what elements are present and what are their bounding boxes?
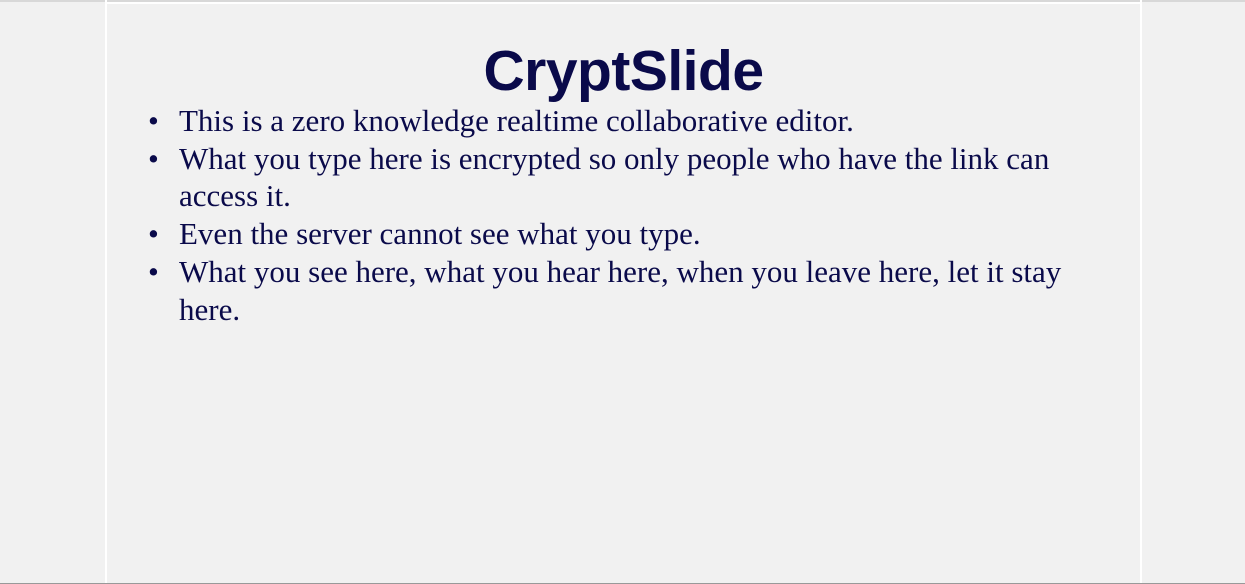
list-item[interactable]: • What you type here is encrypted so onl… <box>107 140 1080 216</box>
bullet-icon: • <box>148 215 160 253</box>
slide-canvas[interactable]: CryptSlide • This is a zero knowledge re… <box>107 2 1140 582</box>
list-item[interactable]: • Even the server cannot see what you ty… <box>107 215 1080 253</box>
slide-bullet-list[interactable]: • This is a zero knowledge realtime coll… <box>107 102 1140 329</box>
list-item-text[interactable]: What you type here is encrypted so only … <box>179 140 1080 216</box>
list-item[interactable]: • What you see here, what you hear here,… <box>107 253 1080 329</box>
slide-right-divider <box>1140 0 1142 584</box>
slide-title[interactable]: CryptSlide <box>107 4 1140 102</box>
list-item-text[interactable]: What you see here, what you hear here, w… <box>179 253 1080 329</box>
right-gutter <box>1142 2 1245 583</box>
bullet-icon: • <box>148 140 160 178</box>
left-gutter <box>0 2 105 583</box>
list-item-text[interactable]: Even the server cannot see what you type… <box>179 215 1080 253</box>
bullet-icon: • <box>148 102 160 140</box>
slide-editor-app: CryptSlide • This is a zero knowledge re… <box>0 0 1245 584</box>
list-item[interactable]: • This is a zero knowledge realtime coll… <box>107 102 1080 140</box>
list-item-text[interactable]: This is a zero knowledge realtime collab… <box>179 102 1080 140</box>
bullet-icon: • <box>148 253 160 291</box>
